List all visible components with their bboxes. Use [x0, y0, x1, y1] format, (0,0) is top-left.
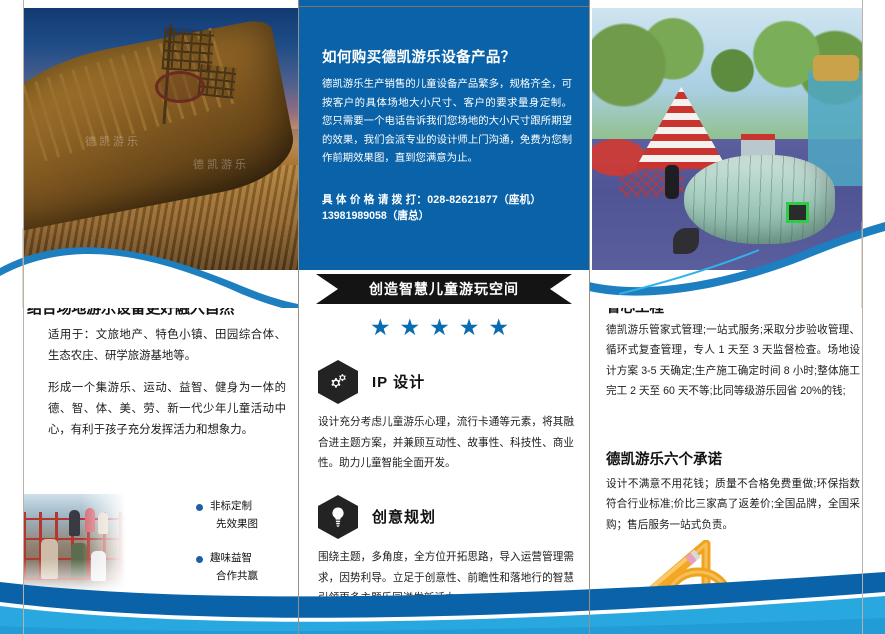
seated-person [665, 165, 679, 199]
right-body-1: 德凯游乐管家式管理;一站式服务;采取分步验收管理、循环式复查管理，专人 1 天至… [606, 320, 860, 401]
bullet-1-line-2: 先效果图 [216, 516, 258, 531]
photo-pirate-ship-playground: 德凯游乐 德凯游乐 [23, 8, 298, 270]
bullet-2-line-1: 趣味益智 [210, 550, 252, 565]
panel-left: 德凯游乐 德凯游乐 结合场地游乐设备更好融入自然 适用于：文旅地产、特色小镇、田… [0, 0, 298, 634]
right-heading-2: 德凯游乐六个承诺 [606, 448, 856, 469]
left-heading: 结合场地游乐设备更好融入自然 [27, 297, 295, 318]
ribbon-banner: 创造智慧儿童游玩空间 [316, 274, 572, 304]
panel-right: 省心工程 德凯游乐管家式管理;一站式服务;采取分步验收管理、循环式复查管理，专人… [589, 0, 885, 634]
lightbulb-idea-icon [318, 495, 358, 539]
bullet-2-line-2: 合作共赢 [216, 568, 258, 583]
submarine-window [786, 202, 809, 223]
fold-line-2 [589, 0, 590, 634]
photo-submarine-playground [592, 8, 862, 270]
ribbon-text: 创造智慧儿童游玩空间 [316, 274, 572, 304]
creative-planning-title: 创意规划 [372, 506, 436, 527]
bullet-dot-icon [196, 556, 203, 563]
page-edge-left [23, 0, 24, 634]
page-edge-right [862, 0, 863, 634]
center-blue-title: 如何购买德凯游乐设备产品？ [322, 46, 568, 67]
right-heading-1: 省心工程 [606, 296, 856, 317]
submarine-ribs [684, 155, 835, 244]
photo-children-playground [23, 494, 133, 592]
gears-icon [318, 360, 358, 404]
watermark-primary: 德凯游乐 [85, 133, 141, 149]
panel-center: 如何购买德凯游乐设备产品？ 德凯游乐生产销售的儿童设备产品繁多，规格齐全，可按客… [298, 0, 589, 634]
bullet-dot-icon [196, 504, 203, 511]
right-body-2: 设计不满意不用花钱；质量不合格免费重做;环保指数符合行业标准;价比三家高了返差价… [606, 474, 860, 535]
ip-design-title: IP 设计 [372, 371, 425, 392]
center-phone-line: 13981989058（唐总） [322, 208, 574, 223]
star-rating: ★★★★★ [316, 314, 572, 341]
bullet-1-line-1: 非标定制 [210, 498, 252, 513]
center-top-rule [298, 6, 589, 7]
center-price-line: 具 体 价 格 请 拨 打：028-82621877（座机） [322, 192, 574, 207]
photo-fade-bottom [23, 559, 133, 592]
submarine-propeller [673, 228, 699, 254]
fold-line-1 [298, 0, 299, 634]
child-figure [69, 510, 80, 536]
drafting-tools-icon [628, 540, 778, 614]
brochure-page: 德凯游乐 德凯游乐 结合场地游乐设备更好融入自然 适用于：文旅地产、特色小镇、田… [0, 0, 885, 634]
deck-canopy [813, 55, 859, 81]
left-paragraph-2: 形成一个集游乐、运动、益智、健身为一体的德、智、体、美、劳、新一代少年儿童活动中… [48, 378, 286, 441]
creative-planning-body: 围绕主题，多角度，全方位开拓思路，导入运营管理需求，因势利导。立足于创意性、前瞻… [318, 547, 574, 609]
watermark-secondary: 德凯游乐 [193, 156, 249, 172]
ip-design-body: 设计充分考虑儿童游乐心理，流行卡通等元素，将其融合进主题方案，并兼顾互动性、故事… [318, 412, 574, 474]
center-blue-body: 德凯游乐生产销售的儿童设备产品繁多，规格齐全，可按客户的具体场地大小尺寸、客户的… [322, 76, 572, 169]
left-paragraph-1: 适用于：文旅地产、特色小镇、田园综合体、生态农庄、研学旅游基地等。 [48, 325, 286, 367]
ship-crows-nest [155, 71, 205, 103]
